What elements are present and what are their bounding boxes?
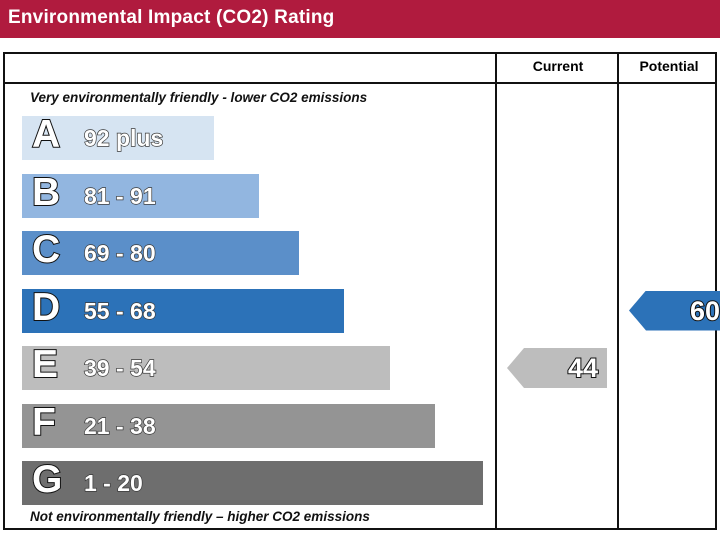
rating-band-c: C69 - 80: [22, 231, 299, 275]
band-range-e: 39 - 54: [84, 349, 156, 387]
title-bar: Environmental Impact (CO2) Rating: [0, 0, 720, 38]
band-letter-d: D: [32, 286, 60, 330]
band-range-g: 1 - 20: [84, 464, 143, 502]
rating-bands: A92 plusB81 - 91C69 - 80D55 - 68E39 - 54…: [5, 54, 495, 528]
band-letter-f: F: [32, 401, 56, 445]
band-letter-e: E: [32, 343, 58, 387]
potential-column-divider: [617, 54, 619, 528]
column-header-current: Current: [497, 58, 619, 74]
current-column-divider: [495, 54, 497, 528]
band-letter-b: B: [32, 171, 60, 215]
rating-band-d: D55 - 68: [22, 289, 344, 333]
band-letter-a: A: [32, 113, 60, 157]
current-rating-value: 44: [568, 348, 598, 388]
band-range-d: 55 - 68: [84, 292, 156, 330]
band-letter-c: C: [32, 228, 60, 272]
rating-band-f: F21 - 38: [22, 404, 435, 448]
rating-band-e: E39 - 54: [22, 346, 390, 390]
rating-band-a: A92 plus: [22, 116, 214, 160]
band-range-a: 92 plus: [84, 119, 163, 157]
rating-chart: Current Potential Very environmentally f…: [3, 52, 717, 530]
band-range-c: 69 - 80: [84, 234, 156, 272]
rating-band-g: G1 - 20: [22, 461, 483, 505]
potential-rating-value: 60: [690, 291, 720, 331]
band-range-b: 81 - 91: [84, 177, 156, 215]
page-title: Environmental Impact (CO2) Rating: [8, 7, 334, 29]
potential-rating-arrow: 60: [629, 291, 720, 331]
band-range-f: 21 - 38: [84, 407, 156, 445]
band-letter-g: G: [32, 458, 62, 502]
column-header-potential: Potential: [619, 58, 719, 74]
rating-band-b: B81 - 91: [22, 174, 259, 218]
current-rating-arrow: 44: [507, 348, 607, 388]
